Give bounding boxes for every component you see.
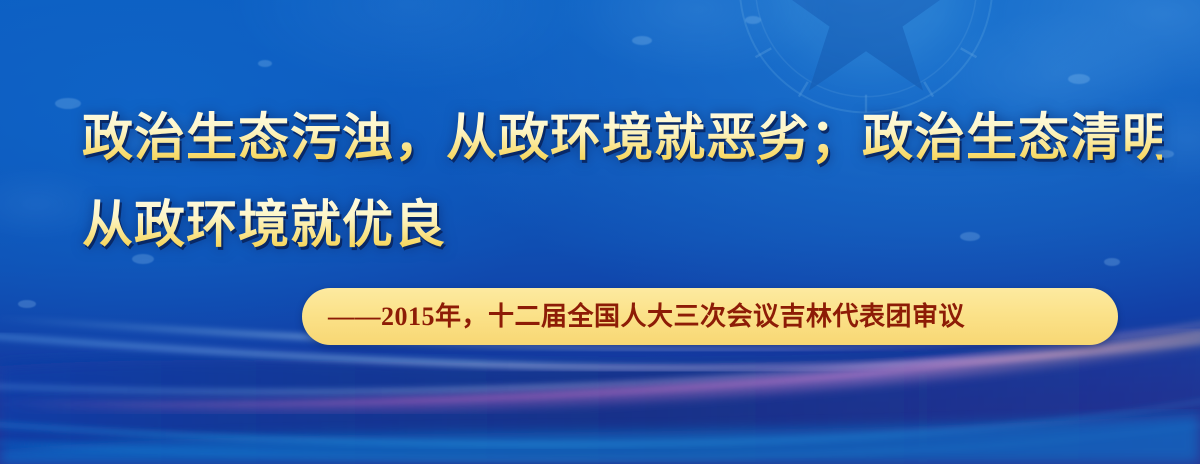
quote-line-2: 从政环境就优良 — [82, 183, 1162, 270]
attribution-text: ——2015年，十二届全国人大三次会议吉林代表团审议 — [328, 304, 965, 330]
attribution-pill: ——2015年，十二届全国人大三次会议吉林代表团审议 — [302, 288, 1118, 345]
quote-banner: 政治生态污浊，从政环境就恶劣；政治生态清明， 从政环境就优良 ——2015年，十… — [0, 0, 1200, 464]
quote-headline: 政治生态污浊，从政环境就恶劣；政治生态清明， 从政环境就优良 — [82, 96, 1162, 270]
quote-line-1: 政治生态污浊，从政环境就恶劣；政治生态清明， — [82, 96, 1162, 183]
